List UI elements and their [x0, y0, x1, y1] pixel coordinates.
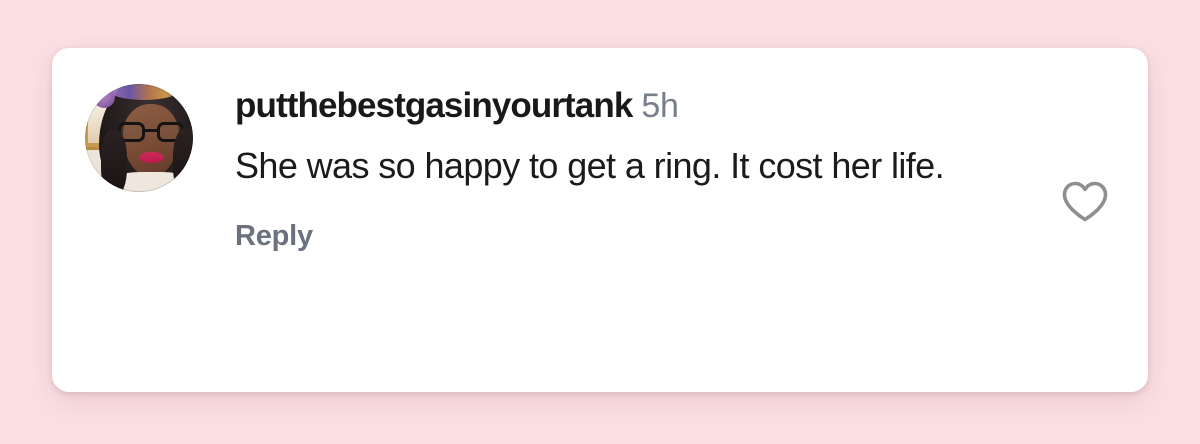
avatar[interactable] — [85, 84, 193, 192]
comment-content: putthebestgasinyourtank5h She was so hap… — [235, 88, 995, 253]
comment-actions: Reply — [235, 220, 995, 253]
comment-username[interactable]: putthebestgasinyourtank — [235, 86, 632, 125]
reply-button[interactable]: Reply — [235, 220, 313, 253]
comment-body-text: She was so happy to get a ring. It cost … — [235, 135, 965, 196]
comment-header: putthebestgasinyourtank5h — [235, 88, 995, 123]
comment-card-inner: putthebestgasinyourtank5h She was so hap… — [52, 48, 1148, 392]
like-button[interactable] — [1056, 172, 1114, 230]
avatar-hair-right-strand — [173, 128, 193, 192]
comment-card: putthebestgasinyourtank5h She was so hap… — [52, 48, 1148, 392]
avatar-photo — [85, 84, 193, 192]
avatar-lips — [139, 152, 164, 163]
page-background: putthebestgasinyourtank5h She was so hap… — [0, 0, 1200, 444]
comment-timestamp: 5h — [641, 87, 678, 125]
avatar-glasses-bridge — [145, 129, 157, 132]
avatar-glasses — [118, 122, 184, 142]
heart-outline-icon — [1061, 180, 1109, 223]
avatar-hair-left-strand — [101, 130, 127, 192]
